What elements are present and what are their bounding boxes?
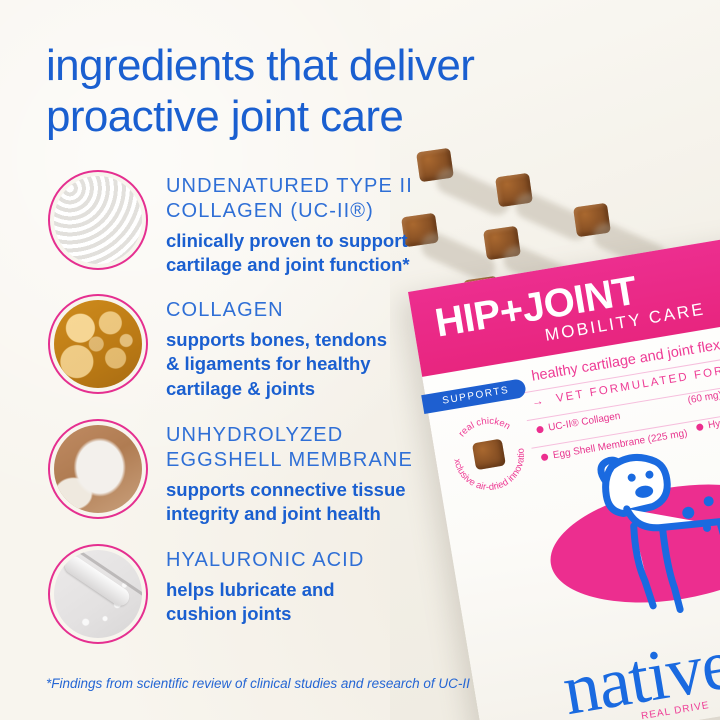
ingredient-row-uc2: UNDENATURED TYPE II COLLAGEN (UC-II®) cl… — [48, 170, 413, 278]
ingredient-title: COLLAGEN — [166, 298, 387, 323]
thumbnail-eggshell — [48, 419, 148, 519]
amber-liquid-icon — [54, 300, 142, 388]
gel-tube-icon — [54, 550, 142, 638]
content-column: ingredients that deliver proactive joint… — [0, 0, 720, 720]
ingredient-description: supports connective tissue integrity and… — [166, 478, 413, 527]
thumbnail-uc2 — [48, 170, 148, 270]
ingredient-row-hyaluronic-acid: HYALURONIC ACID helps lubricate and cush… — [48, 544, 364, 644]
ingredient-row-eggshell: UNHYDROLYZED EGGSHELL MEMBRANE supports … — [48, 419, 413, 527]
thumbnail-collagen — [48, 294, 148, 394]
ingredient-title: HYALURONIC ACID — [166, 548, 364, 573]
thumbnail-hyaluronic-acid — [48, 544, 148, 644]
ingredient-description: supports bones, tendons & ligaments for … — [166, 328, 387, 401]
ingredient-title: UNHYDROLYZED EGGSHELL MEMBRANE — [166, 423, 413, 473]
page-title: ingredients that deliver proactive joint… — [46, 40, 606, 142]
powder-texture-icon — [54, 176, 142, 264]
ingredient-row-collagen: COLLAGEN supports bones, tendons & ligam… — [48, 294, 387, 401]
ingredient-description: clinically proven to support cartilage a… — [166, 229, 413, 278]
footnote: *Findings from scientific review of clin… — [46, 676, 470, 691]
ingredient-title: UNDENATURED TYPE II COLLAGEN (UC-II®) — [166, 174, 413, 224]
ingredient-description: helps lubricate and cushion joints — [166, 578, 364, 627]
eggshell-icon — [54, 425, 142, 513]
